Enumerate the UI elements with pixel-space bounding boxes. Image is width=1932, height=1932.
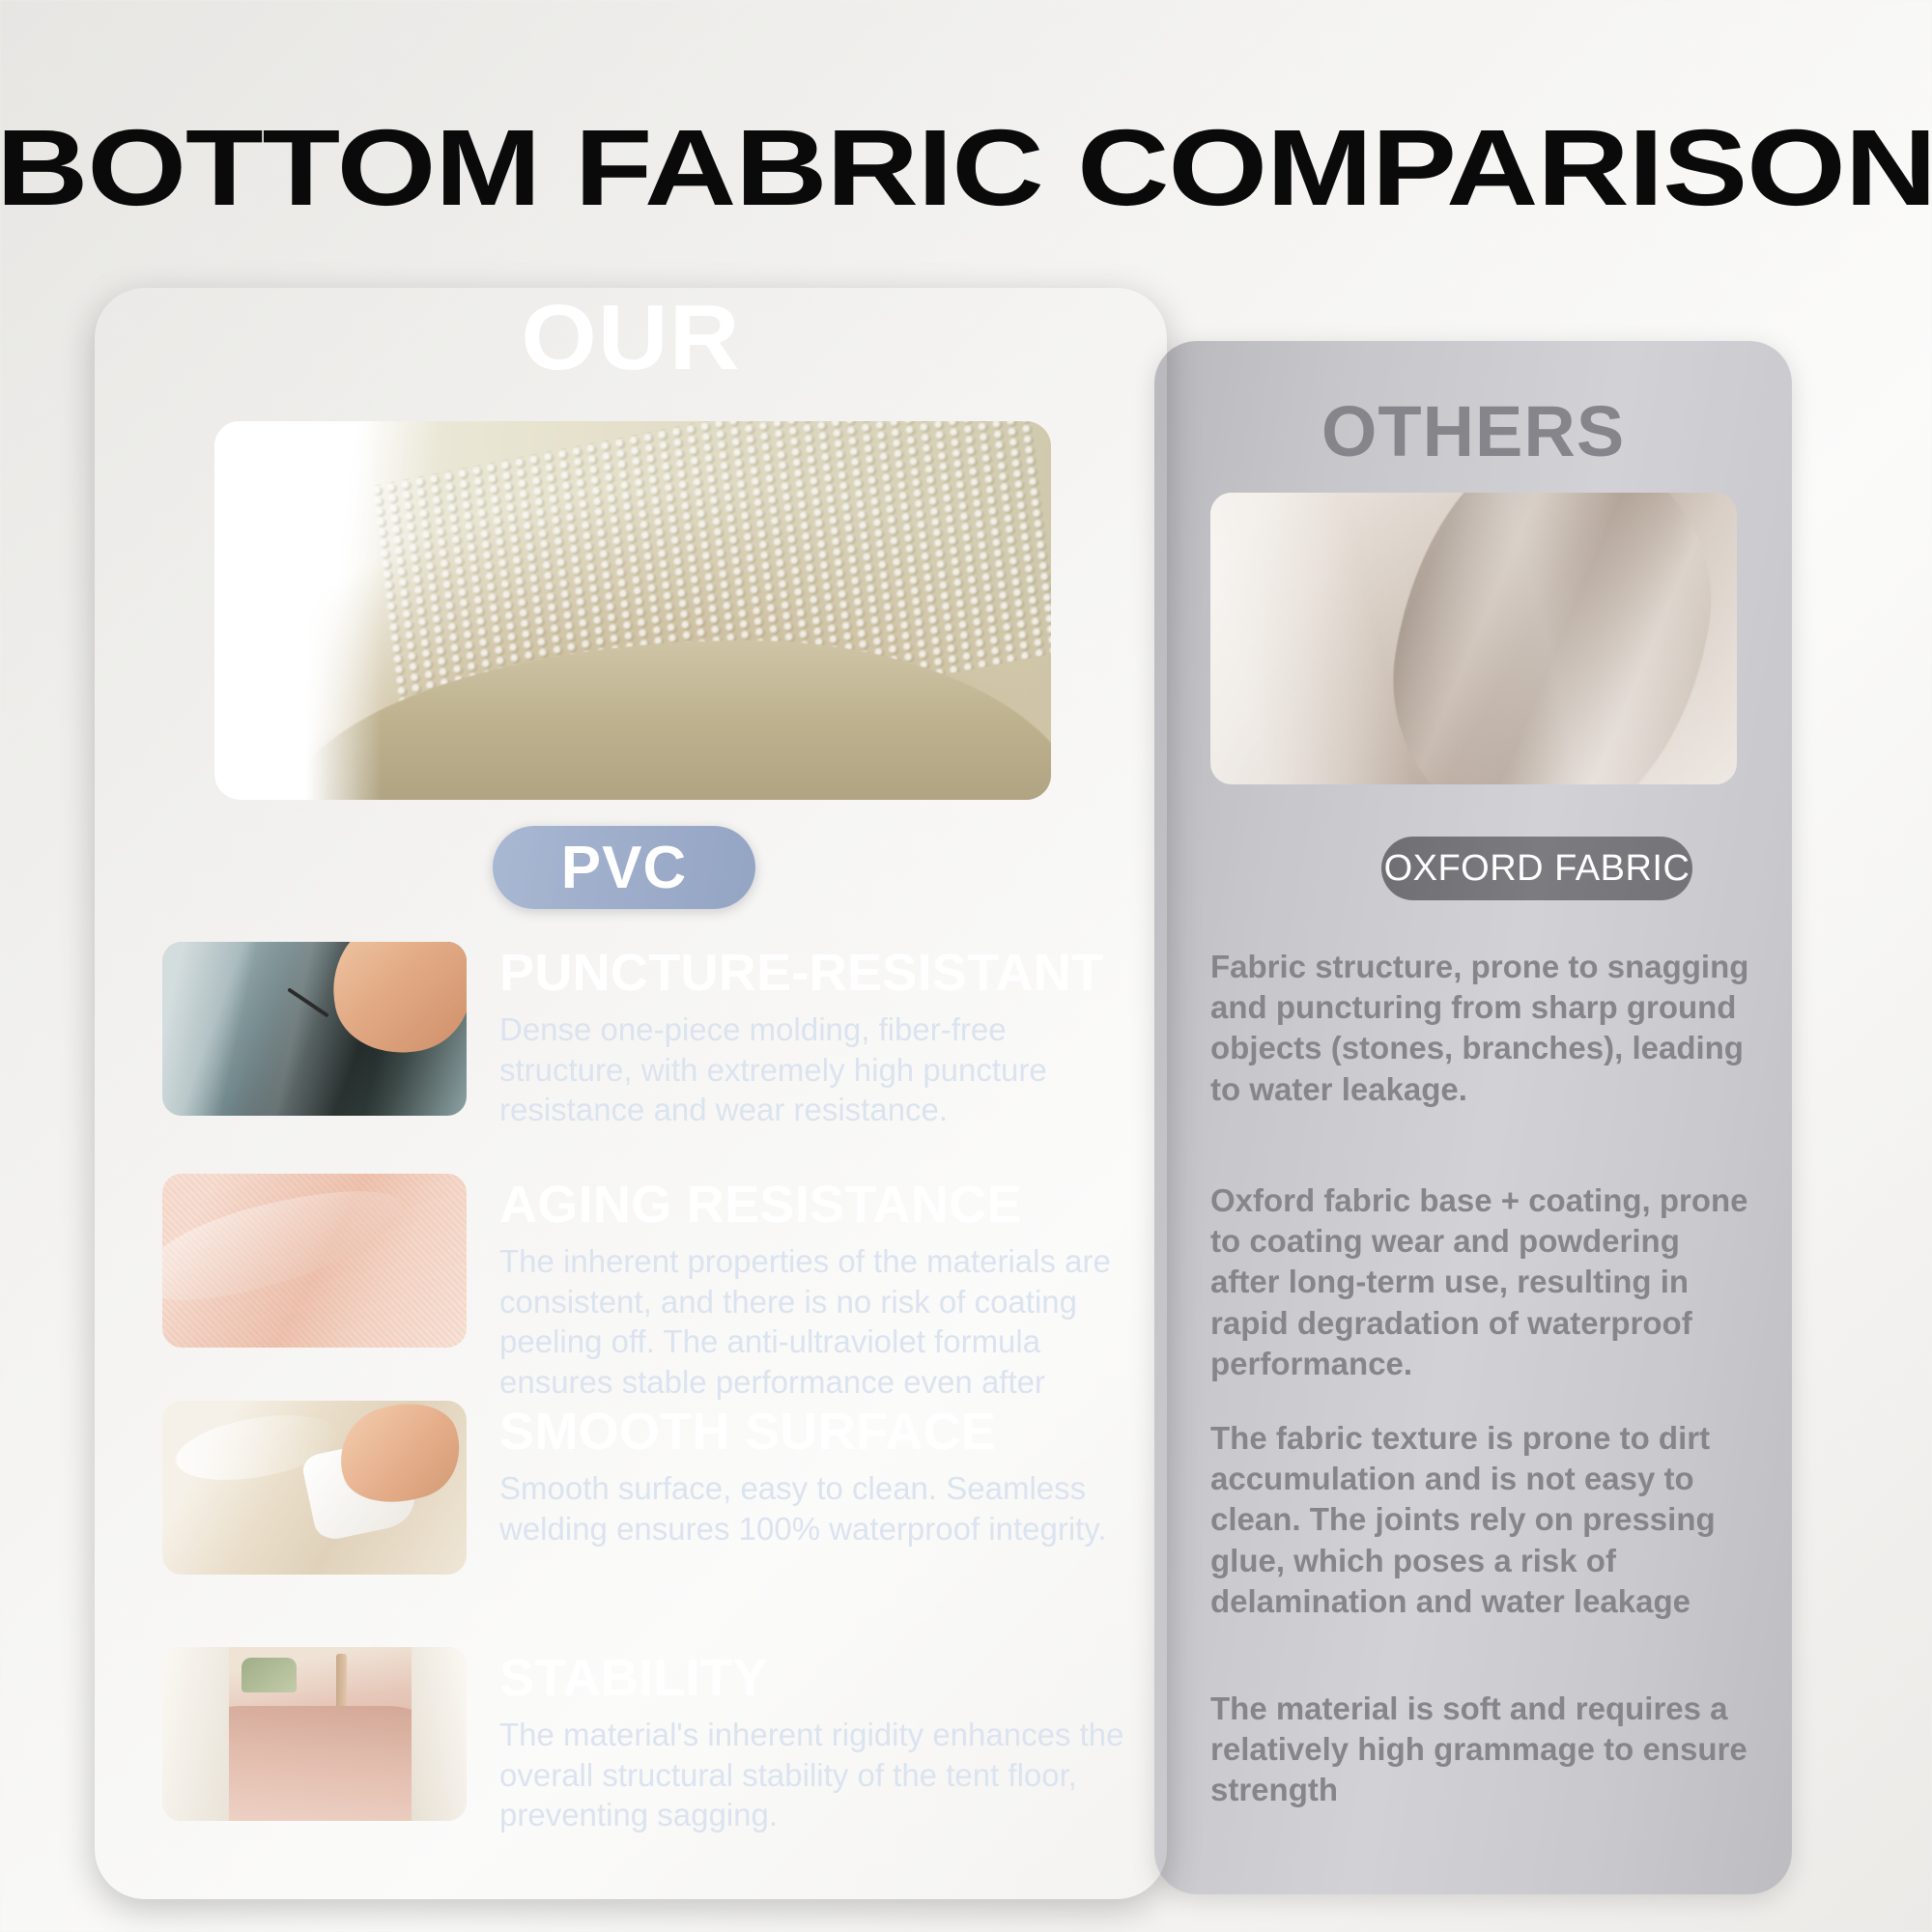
oxford-fabric-fold-photo xyxy=(1210,493,1737,784)
tent-wall-left xyxy=(162,1647,229,1821)
feature-heading: SMOOTH SURFACE xyxy=(499,1405,1138,1459)
tent-window-shape xyxy=(241,1658,297,1692)
others-paragraph-4: The material is soft and requires a rela… xyxy=(1210,1689,1757,1811)
tent-floor-interior-photo xyxy=(162,1647,467,1821)
tent-pole-shape xyxy=(336,1654,347,1713)
oxford-fabric-badge: OXFORD FABRIC xyxy=(1381,837,1692,900)
feature-text-block: SMOOTH SURFACE Smooth surface, easy to c… xyxy=(499,1401,1138,1548)
needle-puncture-test-photo xyxy=(162,942,467,1116)
feature-body: The material's inherent rigidity enhance… xyxy=(499,1715,1138,1835)
feature-body: Smooth surface, easy to clean. Seamless … xyxy=(499,1468,1138,1548)
feature-heading: AGING RESISTANCE xyxy=(499,1178,1138,1232)
pvc-badge: PVC xyxy=(493,826,755,909)
feature-row-aging-resistance: AGING RESISTANCE The inherent properties… xyxy=(162,1174,1138,1402)
feature-text-block: AGING RESISTANCE The inherent properties… xyxy=(499,1174,1138,1402)
others-paragraph-3: The fabric texture is prone to dirt accu… xyxy=(1210,1418,1757,1622)
feature-row-stability: STABILITY The material's inherent rigidi… xyxy=(162,1647,1138,1835)
feature-heading: PUNCTURE-RESISTANT xyxy=(499,946,1138,1000)
others-paragraph-2: Oxford fabric base + coating, prone to c… xyxy=(1210,1180,1757,1384)
tent-wall-right xyxy=(412,1647,467,1821)
pink-pvc-sheet-photo xyxy=(162,1174,467,1348)
others-paragraph-1: Fabric structure, prone to snagging and … xyxy=(1210,947,1757,1110)
feature-row-smooth-surface: SMOOTH SURFACE Smooth surface, easy to c… xyxy=(162,1401,1138,1575)
feature-heading: STABILITY xyxy=(499,1651,1138,1705)
feature-text-block: STABILITY The material's inherent rigidi… xyxy=(499,1647,1138,1835)
feature-body: Dense one-piece molding, fiber-free stru… xyxy=(499,1009,1138,1130)
photo-white-backdrop xyxy=(214,421,382,800)
feature-body: The inherent properties of the materials… xyxy=(499,1241,1138,1402)
our-column-heading: OUR xyxy=(68,290,1194,387)
pvc-tarpaulin-roll-photo xyxy=(214,421,1051,800)
feature-row-puncture-resistant: PUNCTURE-RESISTANT Dense one-piece moldi… xyxy=(162,942,1138,1130)
fabric-sheen xyxy=(1210,493,1737,784)
hand-wiping-surface-photo xyxy=(162,1401,467,1575)
page-title: BOTTOM FABRIC COMPARISON xyxy=(0,114,1932,222)
others-column-heading: OTHERS xyxy=(1154,394,1792,469)
feature-text-block: PUNCTURE-RESISTANT Dense one-piece moldi… xyxy=(499,942,1138,1130)
